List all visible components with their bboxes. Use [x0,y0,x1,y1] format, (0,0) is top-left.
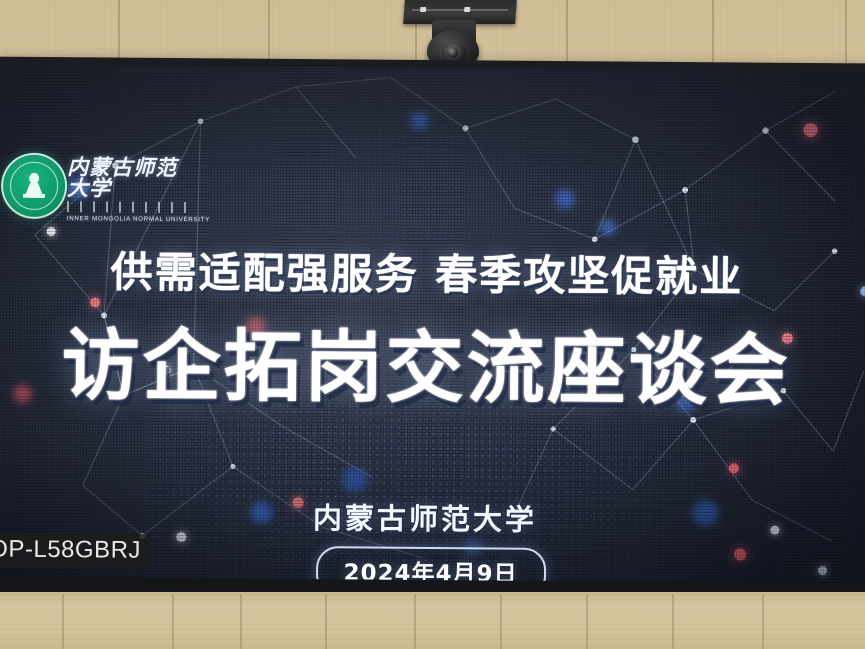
banner-main-title: 访企拓岗交流座谈会 [0,327,859,412]
seal-inner-ring [10,162,58,210]
university-seal-logo [1,153,68,220]
camera-plate-line [412,9,508,11]
seal-emblem-icon [25,173,43,199]
university-name-mongolian [67,201,197,213]
wall-seam [325,594,327,649]
wall-seam [672,594,674,649]
lower-wall-texture [0,592,865,649]
wall-seam [500,594,502,649]
wall-seam [62,594,64,649]
banner-subtitle: 供需适配强服务 春季攻坚促就业 [0,238,860,306]
wall-seam [240,594,242,649]
device-name-watermark: KTOP-L58GBRJ [0,532,149,569]
photo-scene: 内蒙古师范大学 INNER MONGOLIA NORMAL UNIVERSITY… [0,0,865,649]
university-brand: 内蒙古师范大学 INNER MONGOLIA NORMAL UNIVERSITY [67,157,198,223]
seal-emblem-base [23,194,45,198]
wall-seam [172,594,174,649]
camera-plate-dot [420,7,426,12]
lower-wall [0,592,865,649]
wall-seam [414,594,416,649]
university-name-en: INNER MONGOLIA NORMAL UNIVERSITY [67,215,197,223]
wall-seam [586,594,588,649]
camera-plate-dot [464,7,470,12]
banner-date-badge: 2024年4月9日 [315,546,545,583]
wall-seam [762,594,764,649]
led-screen: 内蒙古师范大学 INNER MONGOLIA NORMAL UNIVERSITY… [0,65,865,584]
university-name-cn: 内蒙古师范大学 [67,157,197,200]
